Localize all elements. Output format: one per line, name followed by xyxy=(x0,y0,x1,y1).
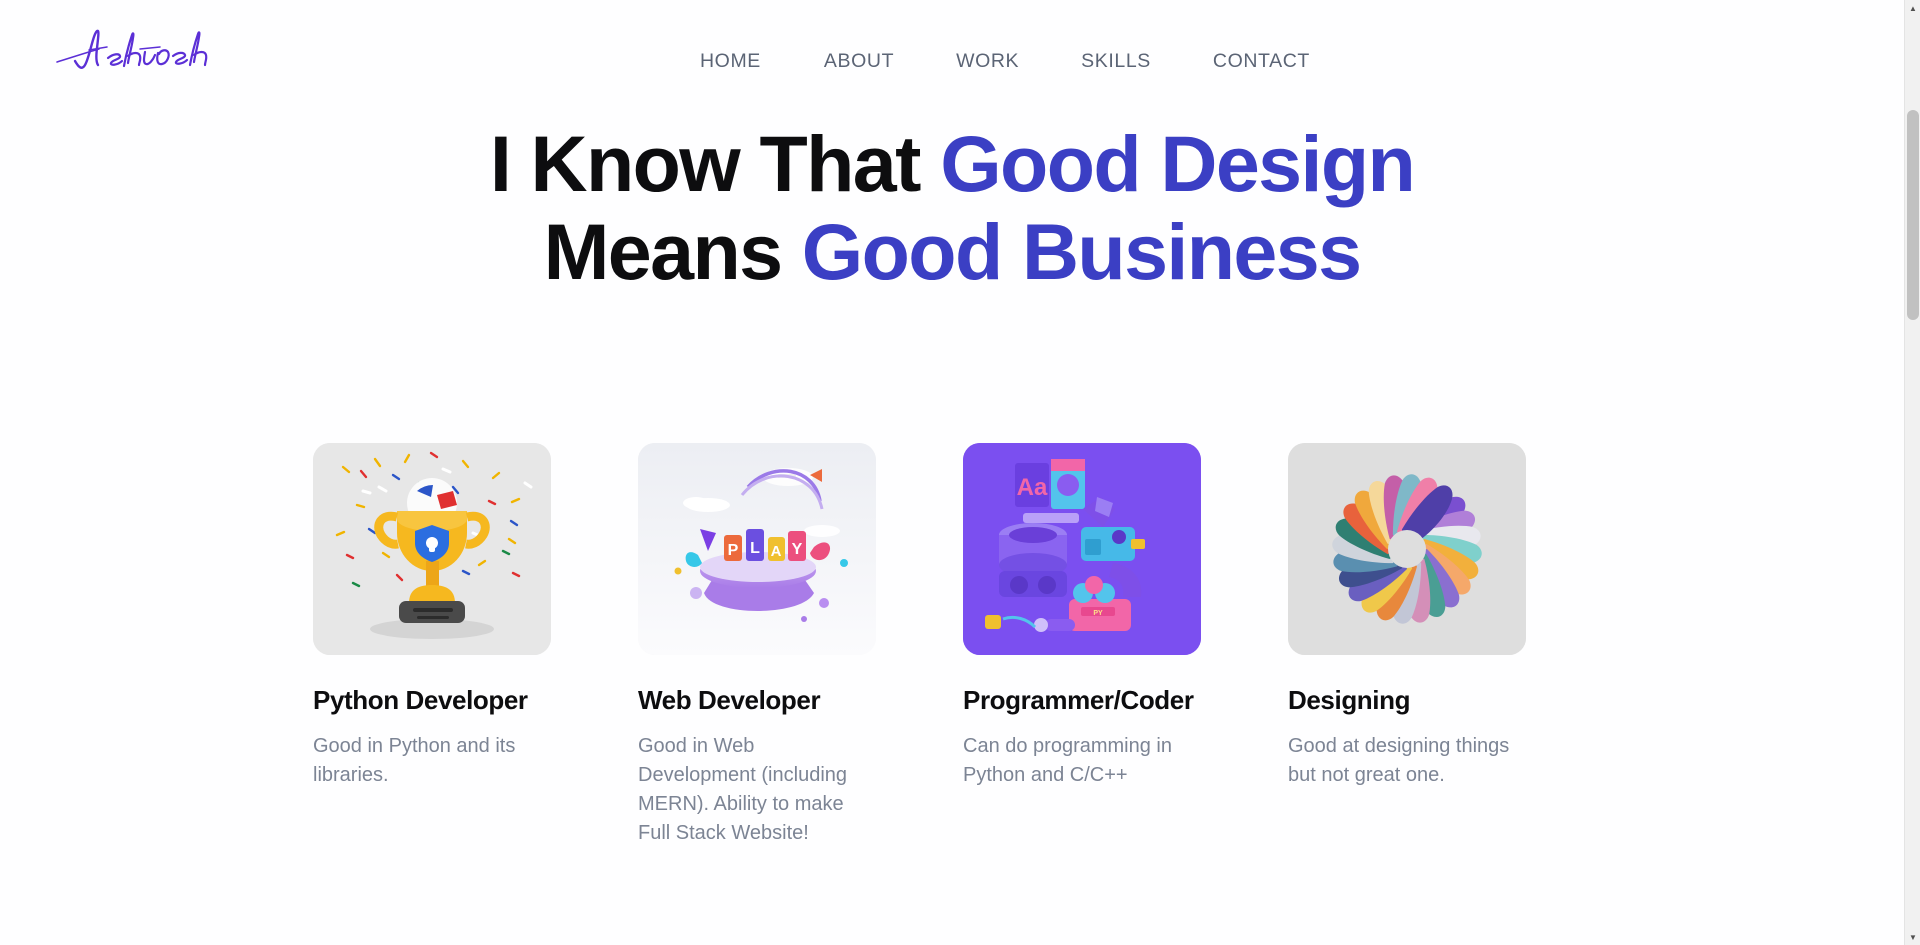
nav-item-skills[interactable]: SKILLS xyxy=(1081,44,1151,79)
scroll-up-arrow-icon[interactable]: ▲ xyxy=(1905,0,1920,16)
hero-line2-plain: Means xyxy=(544,207,802,296)
svg-text:A: A xyxy=(771,543,782,560)
scrollbar-thumb[interactable] xyxy=(1907,110,1919,320)
nav-item-contact[interactable]: CONTACT xyxy=(1213,44,1310,79)
card-description: Can do programming in Python and C/C++ xyxy=(963,732,1195,790)
skill-card-python-developer[interactable]: Python Developer Good in Python and its … xyxy=(313,443,638,848)
svg-text:Y: Y xyxy=(792,541,803,558)
skill-card-web-developer[interactable]: P L A Y xyxy=(638,443,963,848)
rainbow-color-swatch-ring-illustration xyxy=(1288,443,1526,655)
floating-island-icon: P L A Y xyxy=(638,443,876,655)
skill-card-designing[interactable]: Designing Good at designing things but n… xyxy=(1288,443,1613,848)
hero-line1-accent: Good Design xyxy=(940,119,1414,208)
card-description: Good at designing things but not great o… xyxy=(1288,732,1520,790)
browser-viewport: HOME ABOUT WORK SKILLS CONTACT I Know Th… xyxy=(0,0,1920,945)
trophy-confetti-illustration xyxy=(313,443,551,655)
svg-text:P: P xyxy=(728,542,739,559)
hero-line1-plain: I Know That xyxy=(490,119,940,208)
primary-navigation: HOME ABOUT WORK SKILLS CONTACT xyxy=(700,44,1310,79)
vertical-scrollbar[interactable]: ▲ ▼ xyxy=(1904,0,1920,945)
workstation-machines-icon: Aa xyxy=(963,443,1201,655)
svg-text:Aa: Aa xyxy=(1017,474,1048,501)
svg-text:L: L xyxy=(750,540,760,557)
card-title: Python Developer xyxy=(313,685,543,717)
card-description: Good in Web Development (including MERN)… xyxy=(638,732,870,848)
hero-headline: I Know That Good Design Means Good Busin… xyxy=(0,120,1904,297)
nav-item-work[interactable]: WORK xyxy=(956,44,1019,79)
logo-signature-icon xyxy=(55,22,235,74)
card-title: Designing xyxy=(1288,685,1518,717)
skill-card-programmer-coder[interactable]: Aa xyxy=(963,443,1288,848)
card-title: Programmer/Coder xyxy=(963,685,1193,717)
trophy-icon xyxy=(313,443,551,655)
hero-headline-line-2: Means Good Business xyxy=(0,208,1904,296)
color-swatch-ring-icon xyxy=(1288,443,1526,655)
logo-ashutosh[interactable] xyxy=(55,22,235,74)
card-description: Good in Python and its libraries. xyxy=(313,732,545,790)
nav-item-about[interactable]: ABOUT xyxy=(824,44,894,79)
site-header: HOME ABOUT WORK SKILLS CONTACT xyxy=(0,0,1904,98)
3d-workstation-machines-illustration: Aa xyxy=(963,443,1201,655)
scroll-down-arrow-icon[interactable]: ▼ xyxy=(1905,929,1920,945)
svg-text:PY: PY xyxy=(1093,610,1103,617)
floating-island-letters-illustration: P L A Y xyxy=(638,443,876,655)
nav-item-home[interactable]: HOME xyxy=(700,44,761,79)
card-title: Web Developer xyxy=(638,685,868,717)
hero-line2-accent: Good Business xyxy=(802,207,1361,296)
portfolio-page: HOME ABOUT WORK SKILLS CONTACT I Know Th… xyxy=(0,0,1904,945)
hero-headline-line-1: I Know That Good Design xyxy=(0,120,1904,208)
skill-cards-row: Python Developer Good in Python and its … xyxy=(313,443,1613,848)
